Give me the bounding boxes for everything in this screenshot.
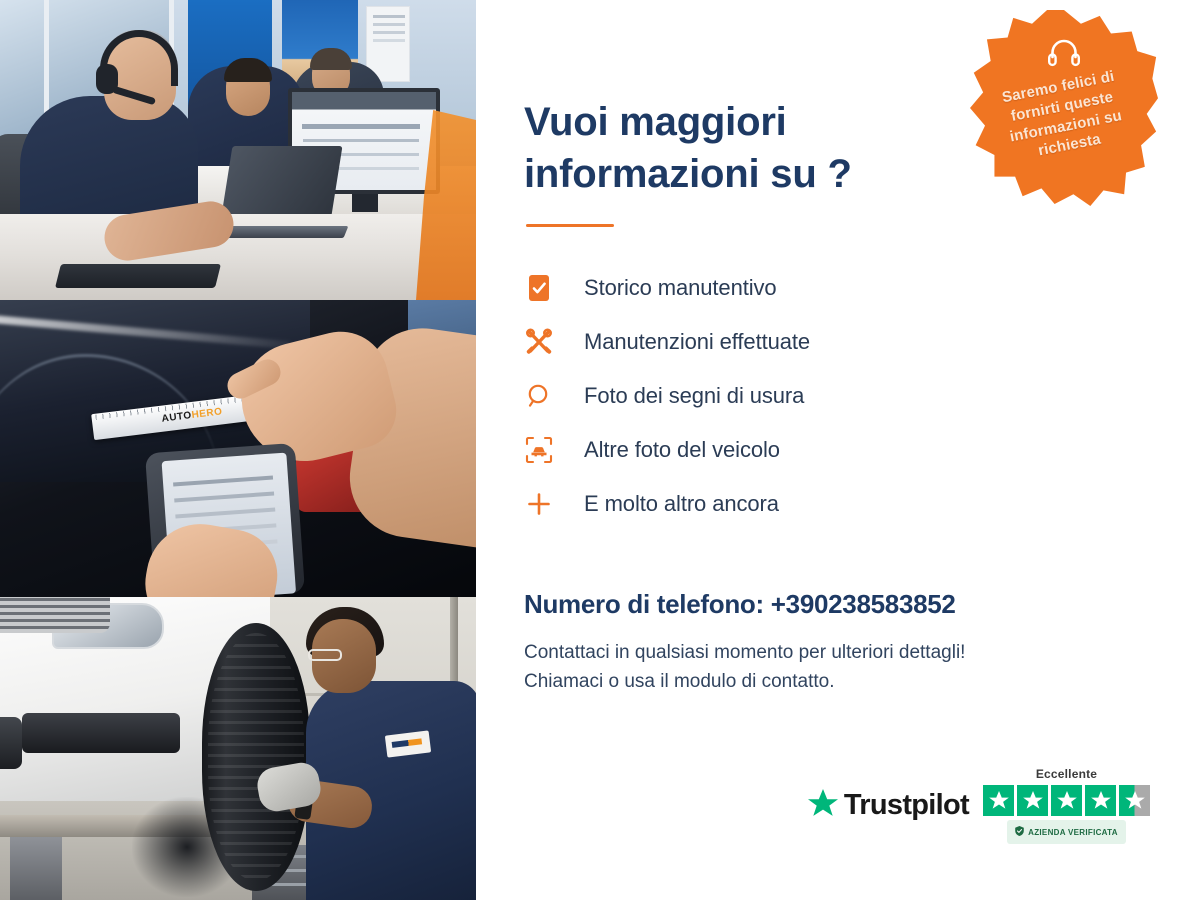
trustpilot-rating-group: Eccellente bbox=[983, 767, 1150, 844]
headset-icon bbox=[1046, 36, 1082, 75]
star-5-half bbox=[1119, 785, 1150, 816]
phone-number-line[interactable]: Numero di telefono: +390238583852 bbox=[524, 589, 1144, 620]
page-title: Vuoi maggiori informazioni su ? bbox=[524, 96, 954, 200]
promo-poster: AUTOHERO bbox=[0, 0, 1200, 900]
title-underline-rule bbox=[526, 224, 614, 227]
trustpilot-logo: Trustpilot bbox=[808, 789, 969, 823]
star-2 bbox=[1017, 785, 1048, 816]
car-scan-icon bbox=[524, 435, 554, 465]
star-3 bbox=[1051, 785, 1082, 816]
photo-column: AUTOHERO bbox=[0, 0, 476, 900]
magnifier-icon bbox=[524, 381, 554, 411]
ruler-brand-auto: AUTO bbox=[161, 410, 192, 425]
trustpilot-widget[interactable]: Trustpilot Eccellente bbox=[808, 767, 1150, 844]
feature-label: Manutenzioni effettuate bbox=[584, 329, 810, 355]
contact-note: Contattaci in qualsiasi momento per ulte… bbox=[524, 638, 1144, 697]
content-panel: Vuoi maggiori informazioni su ? Storico … bbox=[476, 0, 1200, 900]
feature-label: Foto dei segni di usura bbox=[584, 383, 804, 409]
verified-business-label: AZIENDA VERIFICATA bbox=[1028, 828, 1118, 837]
feature-list: Storico manutentivo Manutenzi bbox=[524, 261, 1144, 531]
feature-item-much-more: E molto altro ancora bbox=[524, 477, 1144, 531]
feature-item-more-photos: Altre foto del veicolo bbox=[524, 423, 1144, 477]
ruler-brand-hero: HERO bbox=[191, 406, 223, 421]
feature-item-maintenance-done: Manutenzioni effettuate bbox=[524, 315, 1144, 369]
star-4 bbox=[1085, 785, 1116, 816]
star-1 bbox=[983, 785, 1014, 816]
verified-business-badge: AZIENDA VERIFICATA bbox=[1007, 820, 1126, 844]
plus-icon bbox=[524, 489, 554, 519]
mechanic-wheel-photo bbox=[0, 597, 476, 900]
trustpilot-rating-label: Eccellente bbox=[1036, 767, 1097, 781]
trustpilot-stars bbox=[983, 785, 1150, 816]
shield-icon bbox=[1015, 823, 1024, 841]
feature-label: Altre foto del veicolo bbox=[584, 437, 780, 463]
feature-label: Storico manutentivo bbox=[584, 275, 777, 301]
trustpilot-wordmark: Trustpilot bbox=[844, 789, 969, 822]
contact-note-line-1: Contattaci in qualsiasi momento per ulte… bbox=[524, 638, 1144, 667]
document-check-icon bbox=[524, 273, 554, 303]
contact-block: Numero di telefono: +390238583852 Contat… bbox=[524, 589, 1144, 697]
feature-item-maintenance-history: Storico manutentivo bbox=[524, 261, 1144, 315]
feature-label: E molto altro ancora bbox=[584, 491, 779, 517]
feature-item-wear-photos: Foto dei segni di usura bbox=[524, 369, 1144, 423]
vehicle-inspection-ruler-photo: AUTOHERO bbox=[0, 300, 476, 597]
contact-note-line-2: Chiamaci o usa il modulo di contatto. bbox=[524, 667, 1144, 696]
call-center-agents-photo bbox=[0, 0, 476, 300]
callout-badge: Saremo felici di fornirti queste informa… bbox=[970, 10, 1158, 206]
trustpilot-star-icon bbox=[808, 789, 838, 823]
tools-cross-icon bbox=[524, 327, 554, 357]
